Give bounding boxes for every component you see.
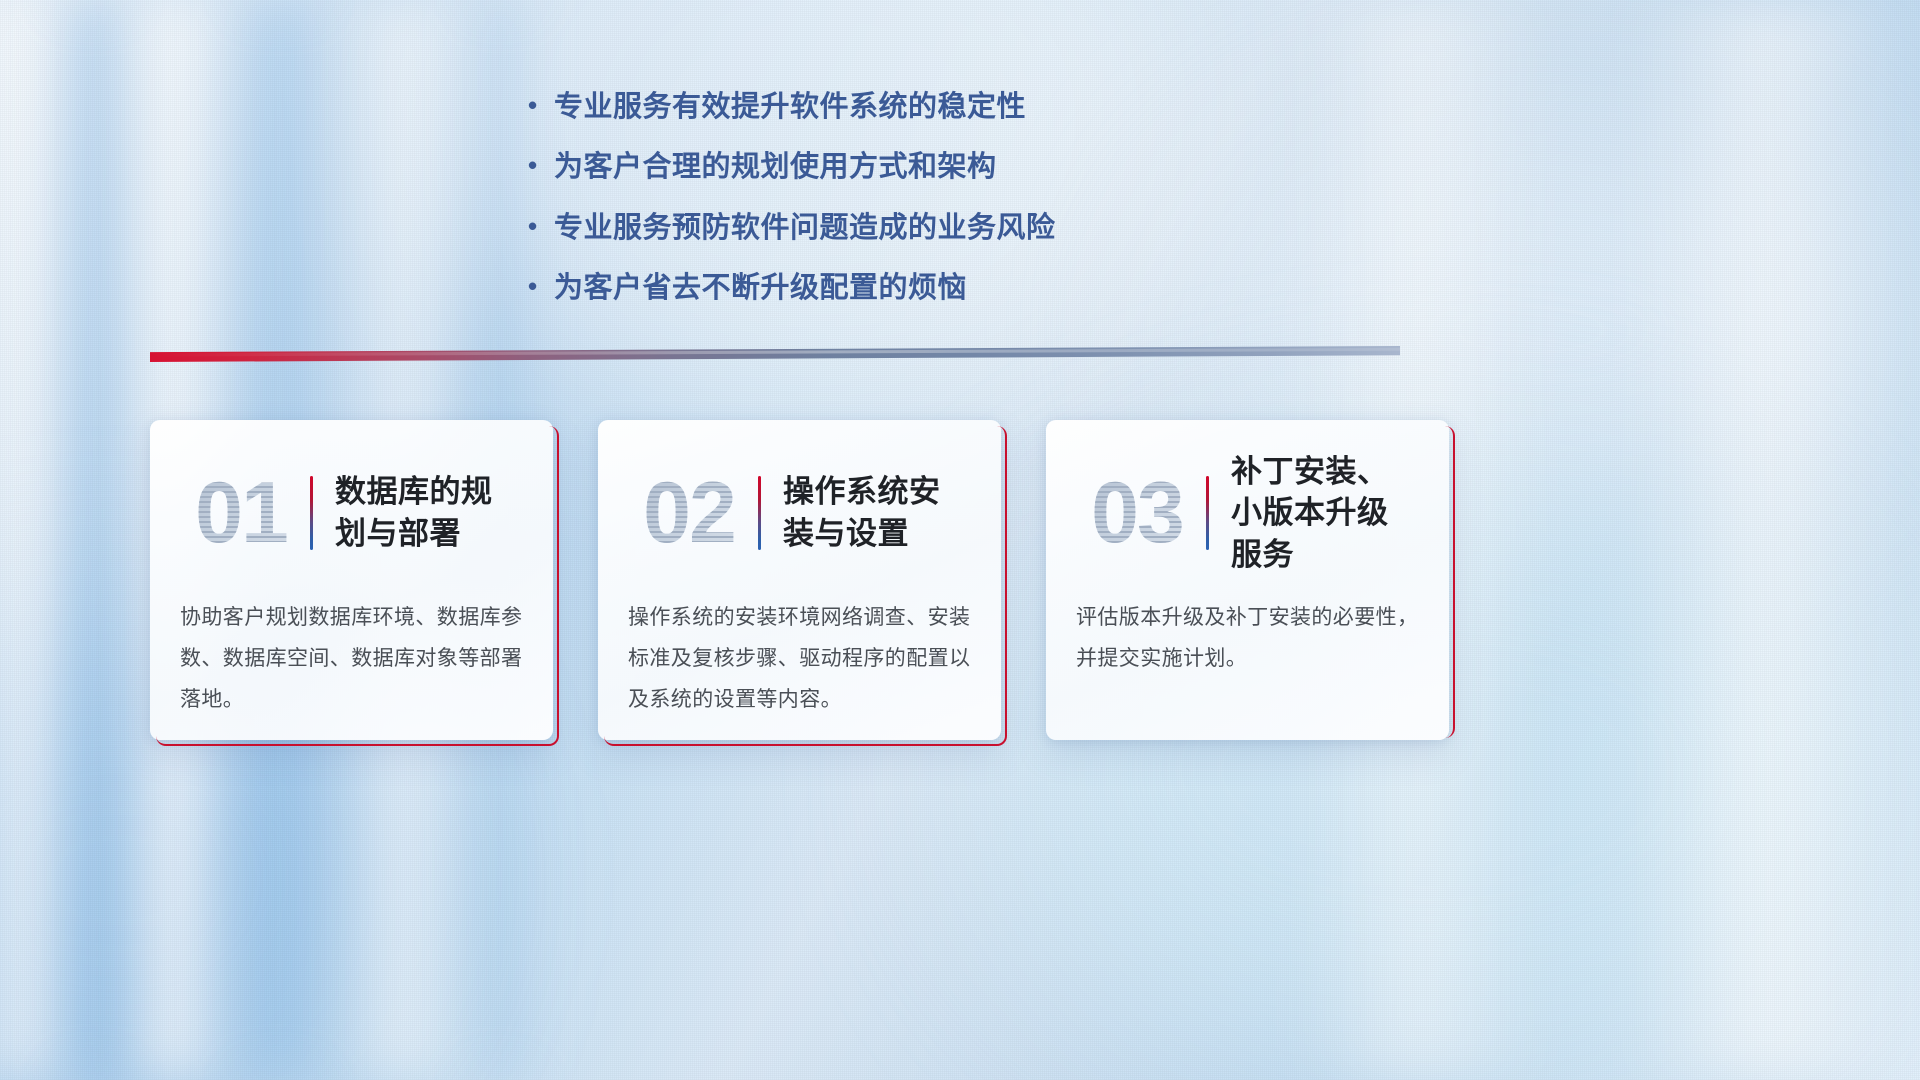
bullet-text: 专业服务有效提升软件系统的稳定性: [554, 88, 1288, 126]
benefits-bullet-list: • 专业服务有效提升软件系统的稳定性 • 为客户合理的规划使用方式和架构 • 专…: [528, 88, 1288, 329]
bullet-marker-icon: •: [528, 269, 554, 304]
bullet-item: • 专业服务有效提升软件系统的稳定性: [528, 88, 1288, 126]
slide-canvas: • 专业服务有效提升软件系统的稳定性 • 为客户合理的规划使用方式和架构 • 专…: [0, 0, 1920, 1080]
bullet-text: 为客户省去不断升级配置的烦恼: [554, 269, 1288, 307]
service-card[interactable]: 03 补丁安装、小版本升级服务 评估版本升级及补丁安装的必要性，并提交实施计划。: [1046, 420, 1449, 740]
card-title: 补丁安装、小版本升级服务: [1231, 451, 1419, 576]
card-title: 操作系统安装与设置: [783, 471, 971, 554]
service-card[interactable]: 01 数据库的规划与部署 协助客户规划数据库环境、数据库参数、数据库空间、数据库…: [150, 420, 553, 740]
card-header: 03 补丁安装、小版本升级服务: [1076, 454, 1419, 572]
bullet-marker-icon: •: [528, 88, 554, 123]
bullet-item: • 为客户合理的规划使用方式和架构: [528, 148, 1288, 186]
bullet-text: 为客户合理的规划使用方式和架构: [554, 148, 1288, 186]
card-accent-bar: [758, 476, 761, 550]
card-body-text: 评估版本升级及补丁安装的必要性，并提交实施计划。: [1076, 598, 1419, 680]
bullet-item: • 为客户省去不断升级配置的烦恼: [528, 269, 1288, 307]
bullet-marker-icon: •: [528, 209, 554, 244]
card-accent-bar: [310, 476, 313, 550]
card-accent-bar: [1206, 476, 1209, 550]
card-title: 数据库的规划与部署: [335, 471, 523, 554]
card-number-ghost: 02: [628, 458, 750, 568]
card-body-text: 协助客户规划数据库环境、数据库参数、数据库空间、数据库对象等部署落地。: [180, 598, 523, 721]
bullet-item: • 专业服务预防软件问题造成的业务风险: [528, 209, 1288, 247]
card-number-ghost: 03: [1076, 458, 1198, 568]
card-number-ghost: 01: [180, 458, 302, 568]
card-header: 02 操作系统安装与设置: [628, 454, 971, 572]
section-divider: [150, 346, 1400, 362]
service-card[interactable]: 02 操作系统安装与设置 操作系统的安装环境网络调查、安装标准及复核步骤、驱动程…: [598, 420, 1001, 740]
service-card-list: 01 数据库的规划与部署 协助客户规划数据库环境、数据库参数、数据库空间、数据库…: [150, 420, 1450, 745]
bullet-text: 专业服务预防软件问题造成的业务风险: [554, 209, 1288, 247]
card-body-text: 操作系统的安装环境网络调查、安装标准及复核步骤、驱动程序的配置以及系统的设置等内…: [628, 598, 971, 721]
bullet-marker-icon: •: [528, 148, 554, 183]
card-header: 01 数据库的规划与部署: [180, 454, 523, 572]
